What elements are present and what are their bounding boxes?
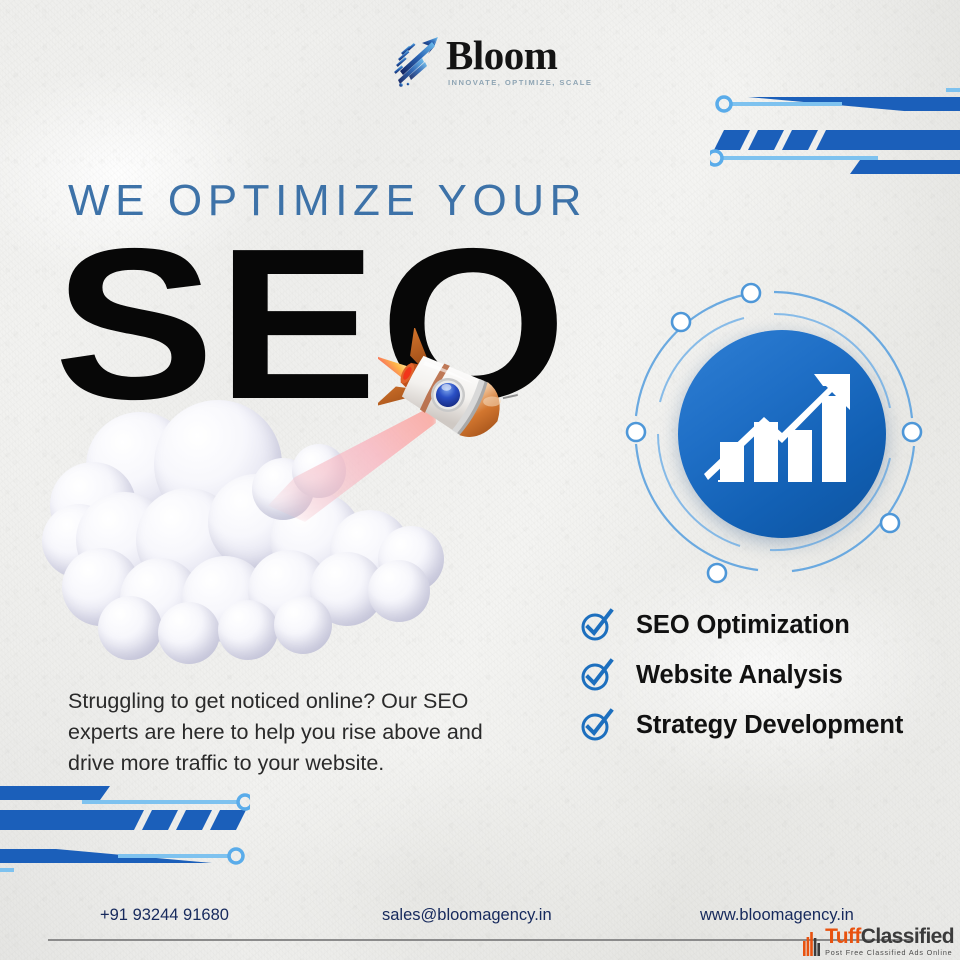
logo-tagline: INNOVATE, OPTIMIZE, SCALE [448, 78, 592, 87]
circuit-chevron-icon [0, 776, 250, 872]
circuit-chevron-icon [710, 88, 960, 184]
footer-divider [48, 939, 912, 941]
rocket-illustration [378, 328, 518, 463]
check-circle-icon [580, 608, 614, 642]
check-circle-icon [580, 658, 614, 692]
watermark: TuffClassified Post Free Classified Ads … [803, 926, 954, 956]
feature-item: SEO Optimization [580, 600, 930, 650]
watermark-name-secondary: Classified [861, 925, 954, 948]
feature-label: Website Analysis [636, 661, 843, 690]
check-circle-icon [580, 708, 614, 742]
seo-marketing-poster: Bloom INNOVATE, OPTIMIZE, SCALE WE OPTIM… [0, 0, 960, 960]
rising-arrow-icon [392, 35, 444, 89]
bottom-left-decoration [0, 776, 250, 872]
bar-logo-icon [803, 932, 823, 956]
feature-item: Strategy Development [580, 700, 930, 750]
rocket-icon [378, 328, 518, 463]
top-right-decoration [710, 88, 960, 184]
body-paragraph: Struggling to get noticed online? Our SE… [68, 686, 498, 779]
feature-list: SEO Optimization Website Analysis Strate… [580, 600, 930, 750]
footer-phone[interactable]: +91 93244 91680 [100, 906, 229, 925]
feature-label: Strategy Development [636, 711, 903, 740]
growth-chart-icon [678, 330, 886, 538]
watermark-tagline: Post Free Classified Ads Online [825, 949, 954, 956]
feature-label: SEO Optimization [636, 611, 850, 640]
brand-logo: Bloom INNOVATE, OPTIMIZE, SCALE [392, 33, 592, 95]
watermark-name-primary: Tuff [825, 925, 861, 948]
logo-wordmark: Bloom [446, 33, 592, 77]
growth-badge [620, 278, 928, 586]
footer-email[interactable]: sales@bloomagency.in [382, 906, 552, 925]
footer-website[interactable]: www.bloomagency.in [700, 906, 854, 925]
feature-item: Website Analysis [580, 650, 930, 700]
